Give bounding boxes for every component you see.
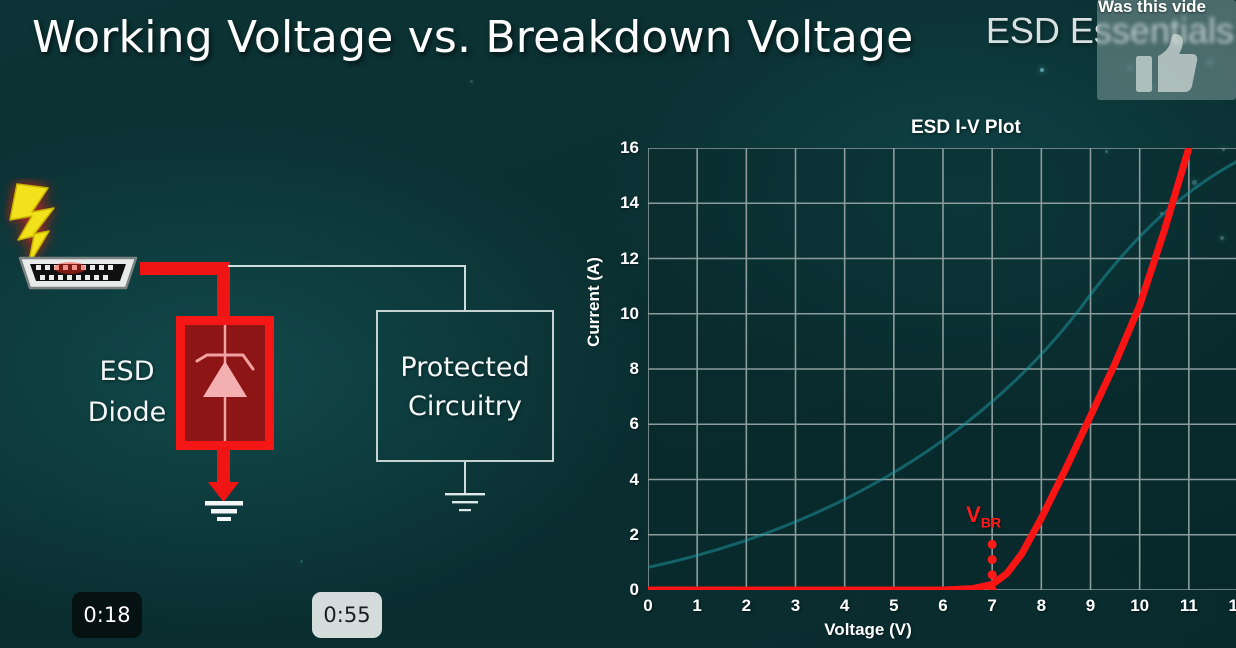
chart-plot-area: VBR [648,148,1236,590]
esd-diode-block [176,316,274,450]
chart-y-tick-label: 2 [630,525,639,545]
protected-circuitry-label: Protected Circuitry [376,348,554,426]
esd-diode-label: ESD Diode [82,352,172,433]
chart-x-tick-label: 3 [791,596,800,616]
vbr-text: V [966,502,981,527]
vbr-subscript: BR [981,514,1001,530]
chart-y-tick-label: 10 [620,304,639,324]
chart-y-tick-label: 6 [630,414,639,434]
surge-wire-vertical [217,262,230,322]
chart-x-axis-label: Voltage (V) [648,620,1088,640]
thumbs-up-icon[interactable] [1136,34,1198,94]
tvs-diode-symbol-icon [185,325,265,441]
chart-x-tick-label: 1 [692,596,701,616]
chart-x-tick-label: 5 [889,596,898,616]
chart-x-tick-label: 6 [938,596,947,616]
chart-y-tick-label: 14 [620,193,639,213]
chart-y-tick-label: 16 [620,138,639,158]
chart-x-tick-label: 12 [1229,596,1236,616]
breakdown-voltage-label: VBR [966,502,1001,530]
chart-y-tick-label: 4 [630,470,639,490]
chart-x-tick-label: 2 [742,596,751,616]
chart-x-tick-label: 11 [1180,596,1198,616]
esd-diode-label-line2: Diode [82,393,172,434]
chart-y-tick-label: 12 [620,249,639,269]
esd-diode-label-line1: ESD [82,352,172,393]
signal-wire-horizontal [228,265,466,267]
chart-y-tick-label: 8 [630,359,639,379]
chart-x-tick-label: 10 [1130,596,1149,616]
chart-x-tick-label: 0 [643,596,652,616]
page-title: Working Voltage vs. Breakdown Voltage [32,12,913,63]
protected-label-line1: Protected [376,348,554,387]
slide-canvas: Working Voltage vs. Breakdown Voltage ES… [0,0,1236,648]
chart-x-tick-label: 9 [1086,596,1095,616]
chart-x-tick-label: 7 [987,596,996,616]
ground-symbol-icon [196,470,252,526]
chart-canvas [648,148,1236,590]
chart-y-tick-label: 0 [630,580,639,600]
chart-y-axis-label: Current (A) [584,257,604,347]
chart-title: ESD I-V Plot [586,117,1236,139]
protected-label-line2: Circuitry [376,387,554,426]
signal-wire-vertical [464,265,466,311]
chart-x-tick-label: 4 [840,596,849,616]
current-time-badge[interactable]: 0:18 [72,592,142,638]
total-time-badge[interactable]: 0:55 [312,592,382,638]
chart-x-tick-label: 8 [1037,596,1046,616]
esd-iv-chart: ESD I-V Plot Current (A) Voltage (V) VBR… [586,112,1236,648]
ground-symbol-icon-2 [442,492,488,522]
protected-ground-wire [464,462,466,495]
hdmi-connector-icon [14,254,142,292]
feedback-prompt: Was this vide [1098,0,1236,17]
